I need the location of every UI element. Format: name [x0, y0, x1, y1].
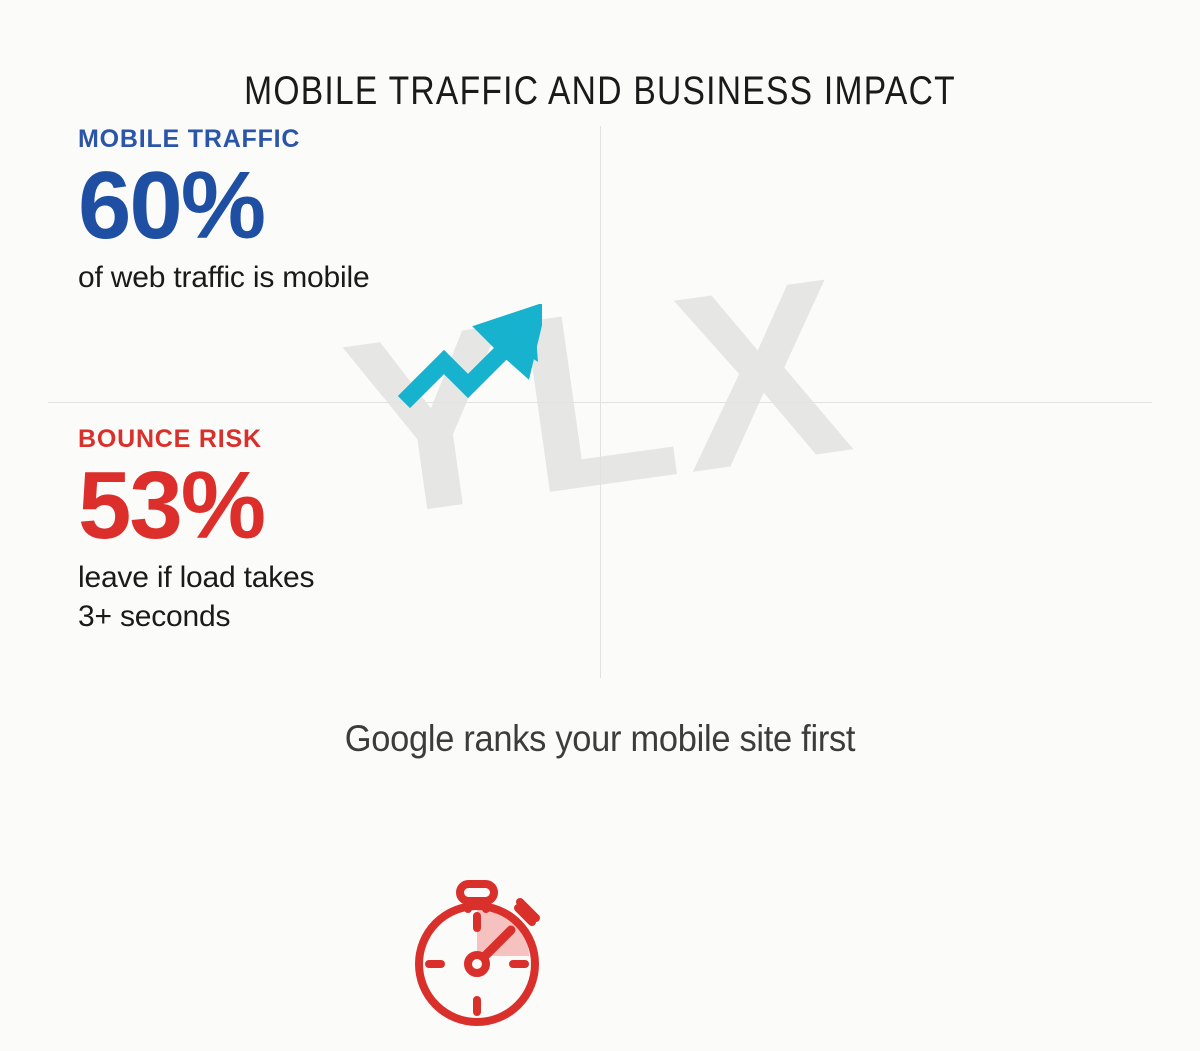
stat-label: BOUNCE RISK: [78, 426, 600, 454]
page-title: MOBILE TRAFFIC AND BUSINESS IMPACT: [96, 69, 1104, 114]
trend-arrow-icon: [396, 304, 542, 415]
stat-description: of web traffic is mobile: [78, 258, 600, 298]
stat-description-line-1: leave if load takes: [78, 561, 314, 594]
stat-description: leave if load takes 3+ seconds: [78, 558, 600, 637]
stat-card-mobile-traffic: MOBILE TRAFFIC 60% of web traffic is mob…: [0, 126, 600, 402]
stats-grid: MOBILE TRAFFIC 60% of web traffic is mob…: [0, 126, 1200, 686]
stat-card-lost-forever: LOST FOREVER 88% won’t return after bad …: [600, 402, 1200, 686]
stopwatch-icon: [398, 878, 556, 1043]
stat-label: MOBILE TRAFFIC: [78, 126, 600, 154]
stat-value: 60%: [78, 158, 600, 254]
stat-card-bounce-risk: BOUNCE RISK 53% leave if load takes 3+ s…: [0, 402, 600, 686]
stat-card-user-frustration: USER FRUSTRATION 84% face hurdles on mob…: [600, 126, 1200, 402]
footer-text: Google ranks your mobile site first: [42, 718, 1158, 760]
stat-value: 53%: [78, 458, 600, 554]
stat-description-line-2: 3+ seconds: [78, 600, 230, 633]
